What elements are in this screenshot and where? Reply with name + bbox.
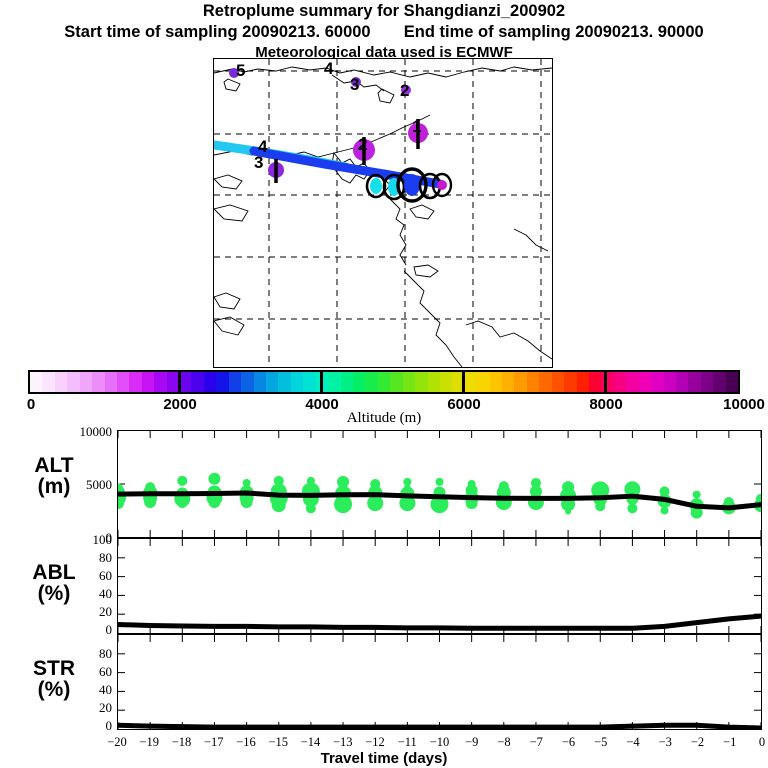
str-ytick-80: 80 [56,646,112,662]
x-axis-title: Travel time (days) [0,750,768,767]
colorbar-swatch-7 [117,372,129,392]
colorbar-swatch-54 [701,372,713,392]
axis-ticks [118,635,761,729]
colorbar-swatch-42 [552,372,564,392]
colorbar-swatch-8 [129,372,141,392]
colorbar-swatch-32 [428,372,440,392]
colorbar-swatch-52 [676,372,688,392]
map-day-label-3b: 3 [254,153,263,173]
colorbar-swatch-1 [42,372,54,392]
colorbar-swatch-13 [191,372,203,392]
colorbar-swatch-33 [440,372,452,392]
abl-ytick-40: 40 [56,586,112,602]
colorbar-swatch-56 [726,372,738,392]
alt-axis-label-line1: ALT [4,455,104,476]
colorbar-swatch-2 [55,372,67,392]
colorbar-swatch-0 [30,372,42,392]
colorbar-swatch-5 [92,372,104,392]
map-day-label-3: 3 [350,75,359,95]
colorbar-swatch-49 [639,372,651,392]
colorbar-swatch-25 [341,372,353,392]
colorbar-swatch-47 [614,372,626,392]
map-day-label-1: 1 [412,117,421,137]
abl-ytick-100: 100 [56,532,112,548]
colorbar-title: Altitude (m) [0,410,768,427]
map-coastlines [214,67,552,367]
end-time-label: End time of sampling 20090213. 90000 [404,23,704,42]
str-panel[interactable] [117,634,762,730]
map-day-label-4: 4 [324,59,333,79]
colorbar-swatch-53 [688,372,700,392]
map-day-label-5: 5 [236,61,245,81]
colorbar-swatch-43 [564,372,576,392]
colorbar-swatch-22 [303,372,315,392]
str-ytick-20: 20 [56,700,112,716]
colorbar-swatch-21 [291,372,303,392]
colorbar-swatch-28 [378,372,390,392]
colorbar-swatch-50 [651,372,663,392]
map-day-label-2b: 2 [358,135,367,155]
page-title: Retroplume summary for Shangdianzi_20090… [0,2,768,21]
colorbar-swatch-9 [142,372,154,392]
axis-ticks [118,539,761,633]
colorbar-swatch-3 [67,372,79,392]
map-graticule [214,59,552,367]
abl-ytick-0: 0 [56,622,112,638]
colorbar-swatch-35 [465,372,477,392]
abl-panel[interactable] [117,538,762,634]
colorbar-swatch-30 [403,372,415,392]
abl-ytick-80: 80 [56,550,112,566]
str-ytick-40: 40 [56,682,112,698]
colorbar-swatch-48 [626,372,638,392]
alt-ytick-10000: 10000 [56,424,112,440]
colorbar-swatch-6 [105,372,117,392]
colorbar-divider-8000 [604,370,607,394]
colorbar-swatch-26 [353,372,365,392]
abl-line [118,616,761,628]
alt-ytick-5000: 5000 [56,477,112,493]
map-day-label-2: 2 [400,81,409,101]
sampling-time-row: Start time of sampling 20090213. 60000 E… [0,23,768,42]
abl-ytick-20: 20 [56,604,112,620]
colorbar-swatch-14 [204,372,216,392]
colorbar-swatch-17 [241,372,253,392]
colorbar-swatch-4 [80,372,92,392]
colorbar-swatch-55 [713,372,725,392]
colorbar-swatch-19 [266,372,278,392]
colorbar-swatch-37 [490,372,502,392]
colorbar-swatch-10 [154,372,166,392]
colorbar-swatch-40 [527,372,539,392]
colorbar-swatch-18 [254,372,266,392]
colorbar-gradient [30,372,738,392]
colorbar-swatch-44 [577,372,589,392]
colorbar-swatch-39 [514,372,526,392]
colorbar-swatch-12 [179,372,191,392]
colorbar-swatch-41 [539,372,551,392]
str-ytick-0: 0 [56,718,112,734]
colorbar-swatch-29 [390,372,402,392]
abl-ytick-60: 60 [56,568,112,584]
colorbar-swatch-27 [365,372,377,392]
str-line [118,725,761,728]
colorbar-divider-4000 [320,370,323,394]
colorbar-swatch-38 [502,372,514,392]
colorbar-swatch-31 [415,372,427,392]
colorbar-swatch-45 [589,372,601,392]
colorbar-swatch-51 [664,372,676,392]
colorbar-swatch-24 [328,372,340,392]
start-time-label: Start time of sampling 20090213. 60000 [64,23,370,42]
colorbar-swatch-15 [216,372,228,392]
retroplume-map[interactable]: 5 4 3 2 1 2 4 3 [213,58,553,368]
x-tick-0: 0 [742,735,768,750]
colorbar-swatch-36 [477,372,489,392]
str-ytick-60: 60 [56,664,112,680]
colorbar-swatch-16 [229,372,241,392]
colorbar-divider-6000 [462,370,465,394]
colorbar-swatch-20 [278,372,290,392]
altitude-colorbar[interactable] [28,370,740,394]
colorbar-divider-2000 [178,370,181,394]
alt-panel[interactable] [117,430,762,538]
